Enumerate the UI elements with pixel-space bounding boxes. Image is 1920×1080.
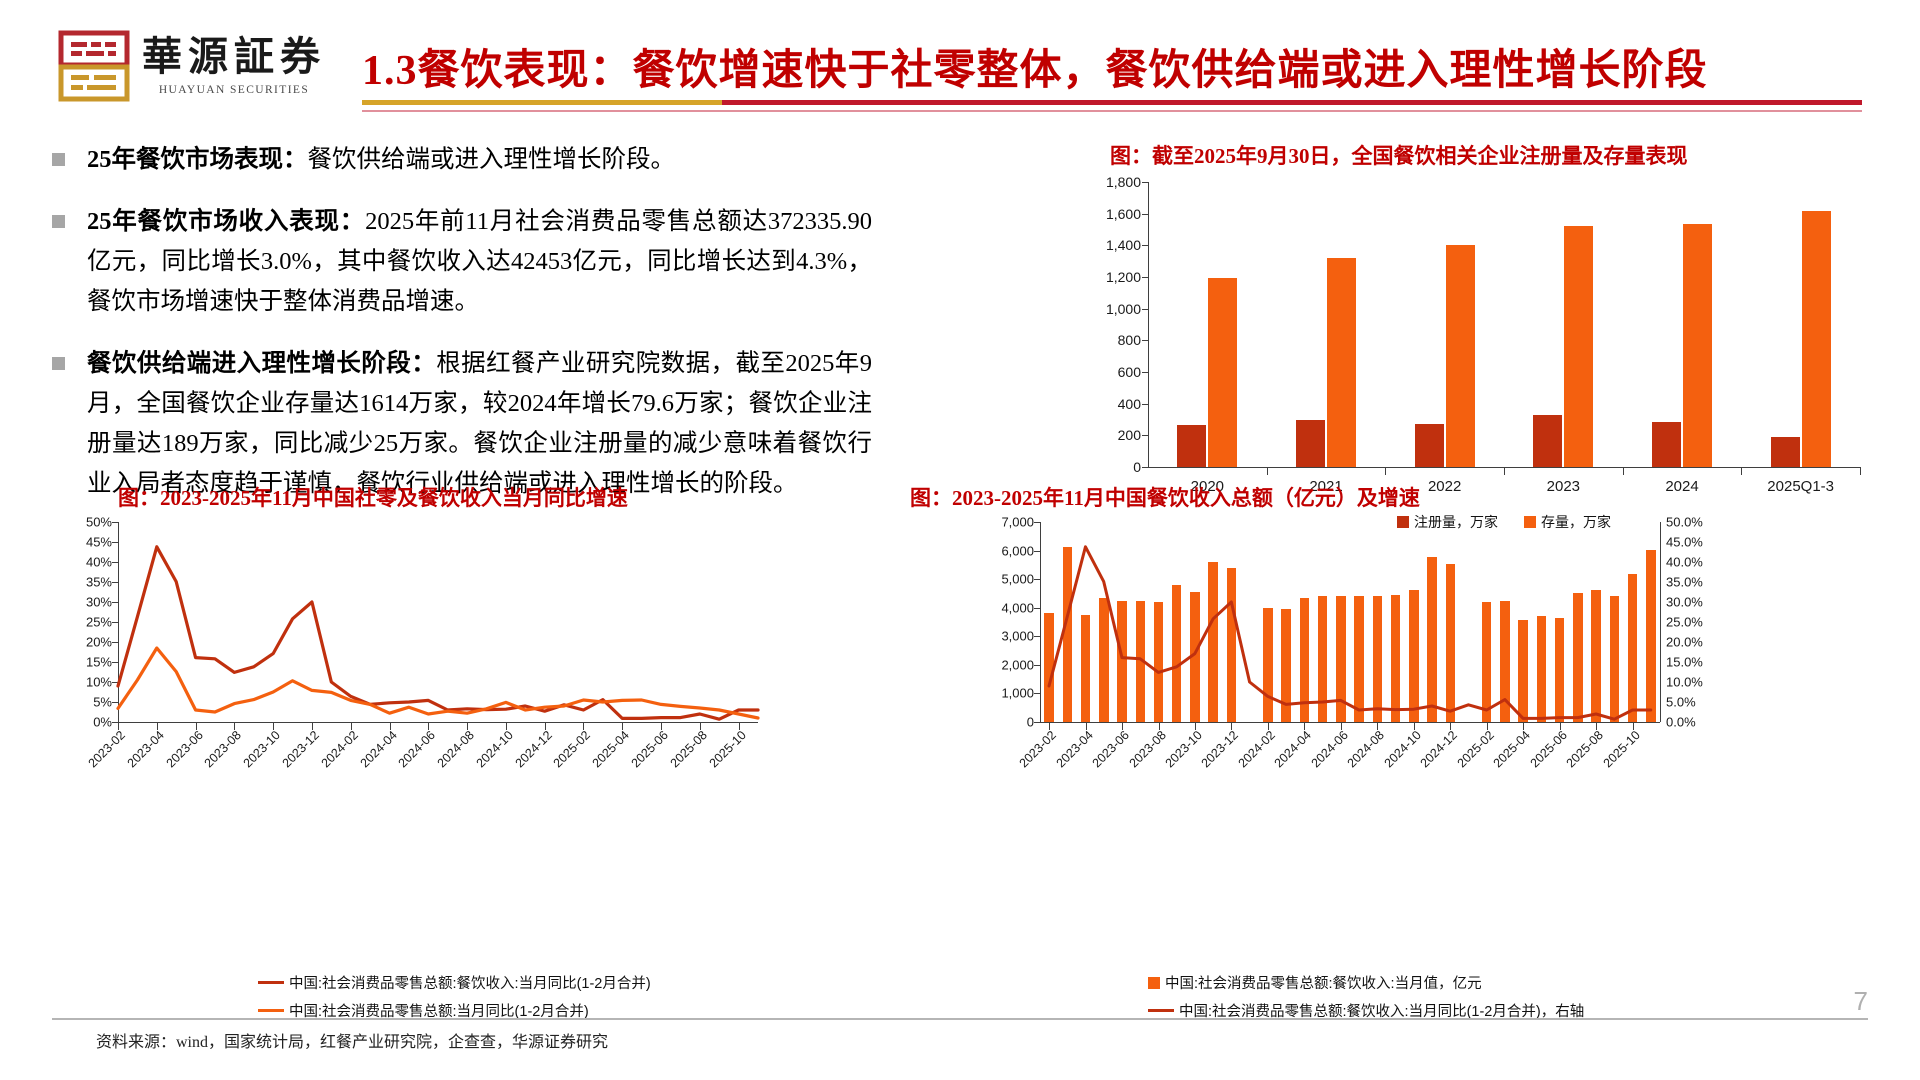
header-rule-red bbox=[722, 100, 1862, 105]
bar-registrations bbox=[1533, 415, 1562, 467]
y2-tick-label: 25.0% bbox=[1666, 615, 1703, 630]
y2-tick-label: 15.0% bbox=[1666, 655, 1703, 670]
y-tick-label: 30% bbox=[86, 595, 112, 610]
y-tick-label: 1,000 bbox=[1106, 301, 1141, 317]
y-tick-mark bbox=[1142, 404, 1148, 405]
y-tick-label: 800 bbox=[1118, 332, 1141, 348]
y-tick-label: 200 bbox=[1118, 427, 1141, 443]
company-logo: 華源証券 HUAYUAN SECURITIES bbox=[58, 30, 326, 102]
y-tick-label: 1,800 bbox=[1106, 174, 1141, 190]
chart-title-catering-revenue: 图：2023-2025年11月中国餐饮收入总额（亿元）及增速 bbox=[910, 482, 1420, 512]
chart-enterprise-bar: 02004006008001,0001,2001,4001,6001,80020… bbox=[1148, 182, 1860, 467]
y2-tick-label: 30.0% bbox=[1666, 595, 1703, 610]
y-tick-mark bbox=[1034, 608, 1040, 609]
y-tick-label: 7,000 bbox=[1001, 515, 1034, 530]
footer-divider bbox=[52, 1018, 1868, 1020]
legend-catering-revenue: 中国:社会消费品零售总额:餐饮收入:当月值，亿元中国:社会消费品零售总额:餐饮收… bbox=[1148, 972, 1584, 1021]
y-tick-label: 20% bbox=[86, 635, 112, 650]
y-tick-label: 35% bbox=[86, 575, 112, 590]
x-category-label: 2023 bbox=[1547, 478, 1580, 495]
logo-english-name: HUAYUAN SECURITIES bbox=[159, 84, 309, 96]
bar-registrations bbox=[1296, 420, 1325, 467]
y-tick-label: 600 bbox=[1118, 364, 1141, 380]
y-tick-label: 15% bbox=[86, 655, 112, 670]
bullet-text: 25年餐饮市场表现：餐饮供给端或进入理性增长阶段。 bbox=[87, 140, 675, 180]
y-tick-label: 4,000 bbox=[1001, 600, 1034, 615]
y-tick-mark bbox=[1142, 340, 1148, 341]
header-rule-gold bbox=[362, 100, 722, 105]
bullet-lead: 餐饮供给端进入理性增长阶段： bbox=[87, 350, 436, 377]
chart-title-yoy-growth: 图：2023-2025年11月中国社零及餐饮收入当月同比增速 bbox=[118, 482, 628, 512]
y2-tick-label: 50.0% bbox=[1666, 515, 1703, 530]
bullet-text: 25年餐饮市场收入表现：2025年前11月社会消费品零售总额达372335.90… bbox=[87, 202, 872, 322]
y-tick-mark bbox=[1142, 467, 1148, 468]
bar-stock bbox=[1802, 211, 1831, 467]
y2-tick-label: 5.0% bbox=[1666, 695, 1696, 710]
y-tick-label: 0% bbox=[93, 715, 112, 730]
bar-registrations bbox=[1652, 422, 1681, 467]
y-tick-label: 10% bbox=[86, 675, 112, 690]
series-line-retail-yoy bbox=[118, 522, 758, 722]
header-rule-thin bbox=[362, 110, 1862, 112]
chart-catering-revenue-combo: 01,0002,0003,0004,0005,0006,0007,0000.0%… bbox=[1040, 522, 1660, 722]
legend-item-0: 中国:社会消费品零售总额:餐饮收入:当月值，亿元 bbox=[1148, 972, 1584, 993]
bullet-lead: 25年餐饮市场收入表现： bbox=[87, 208, 365, 235]
legend-label: 中国:社会消费品零售总额:餐饮收入:当月值，亿元 bbox=[1165, 972, 1482, 993]
y2-tick-label: 10.0% bbox=[1666, 675, 1703, 690]
page-title: 1.3餐饮表现：餐饮增速快于社零整体，餐饮供给端或进入理性增长阶段 bbox=[362, 36, 1708, 97]
x-tick-mark bbox=[1385, 467, 1386, 475]
legend-line-swatch bbox=[258, 1009, 284, 1012]
y-tick-label: 0 bbox=[1027, 715, 1034, 730]
x-tick-mark bbox=[1623, 467, 1624, 475]
y-axis bbox=[1040, 522, 1041, 722]
chart-yoy-growth-line: 0%5%10%15%20%25%30%35%40%45%50%2023-0220… bbox=[118, 522, 758, 722]
legend-swatch bbox=[1148, 977, 1160, 989]
bar-stock bbox=[1683, 224, 1712, 467]
line-overlay bbox=[1049, 522, 1651, 722]
y-tick-label: 40% bbox=[86, 555, 112, 570]
x-tick-mark bbox=[1860, 467, 1861, 475]
x-category-label: 2024 bbox=[1665, 478, 1698, 495]
y2-tick-label: 35.0% bbox=[1666, 575, 1703, 590]
list-item: 25年餐饮市场收入表现：2025年前11月社会消费品零售总额达372335.90… bbox=[52, 202, 872, 322]
y-tick-mark bbox=[1142, 277, 1148, 278]
y-tick-label: 0 bbox=[1133, 459, 1141, 475]
bar-stock bbox=[1208, 278, 1237, 467]
bar-stock bbox=[1446, 245, 1475, 467]
bullet-square-icon bbox=[52, 153, 65, 166]
y2-tick-label: 20.0% bbox=[1666, 635, 1703, 650]
y-tick-label: 5,000 bbox=[1001, 572, 1034, 587]
bar-registrations bbox=[1771, 437, 1800, 467]
x-tick-mark bbox=[1267, 467, 1268, 475]
bar-stock bbox=[1327, 258, 1356, 467]
y-tick-label: 1,600 bbox=[1106, 206, 1141, 222]
y-tick-label: 45% bbox=[86, 535, 112, 550]
y-tick-mark bbox=[1142, 435, 1148, 436]
y-tick-mark bbox=[1034, 665, 1040, 666]
y-tick-mark bbox=[1142, 214, 1148, 215]
bullet-square-icon bbox=[52, 357, 65, 370]
slide: 華源証券 HUAYUAN SECURITIES 1.3餐饮表现：餐饮增速快于社零… bbox=[0, 0, 1920, 1080]
y-tick-mark bbox=[1142, 245, 1148, 246]
bullet-rest: 餐饮供给端或进入理性增长阶段。 bbox=[308, 146, 676, 173]
logo-chinese-name: 華源証券 bbox=[142, 37, 326, 77]
y-tick-mark bbox=[1034, 722, 1040, 723]
x-tick-mark bbox=[1741, 467, 1742, 475]
legend-yoy-growth: 中国:社会消费品零售总额:餐饮收入:当月同比(1-2月合并)中国:社会消费品零售… bbox=[258, 972, 651, 1021]
page-number: 7 bbox=[1854, 986, 1868, 1017]
y-tick-mark bbox=[1142, 372, 1148, 373]
series-line-catering-yoy-right bbox=[1049, 522, 1651, 722]
y-tick-mark bbox=[1034, 522, 1040, 523]
huayuan-seal-icon bbox=[58, 30, 130, 102]
y-tick-label: 6,000 bbox=[1001, 543, 1034, 558]
y-tick-label: 5% bbox=[93, 695, 112, 710]
bar-registrations bbox=[1177, 425, 1206, 467]
list-item: 25年餐饮市场表现：餐饮供给端或进入理性增长阶段。 bbox=[52, 140, 872, 180]
y-tick-label: 2,000 bbox=[1001, 657, 1034, 672]
bullet-text: 餐饮供给端进入理性增长阶段：根据红餐产业研究院数据，截至2025年9月，全国餐饮… bbox=[87, 344, 872, 504]
legend-label: 中国:社会消费品零售总额:餐饮收入:当月同比(1-2月合并) bbox=[289, 972, 651, 993]
chart-title-enterprise-bar: 图：截至2025年9月30日，全国餐饮相关企业注册量及存量表现 bbox=[1110, 140, 1688, 170]
slide-header: 華源証券 HUAYUAN SECURITIES 1.3餐饮表现：餐饮增速快于社零… bbox=[0, 0, 1920, 128]
y2-tick-label: 45.0% bbox=[1666, 535, 1703, 550]
y-tick-label: 50% bbox=[86, 515, 112, 530]
y-tick-mark bbox=[1142, 182, 1148, 183]
y-tick-mark bbox=[1142, 309, 1148, 310]
y-tick-mark bbox=[1034, 636, 1040, 637]
y2-tick-label: 40.0% bbox=[1666, 555, 1703, 570]
y-tick-label: 1,200 bbox=[1106, 269, 1141, 285]
y-axis-right bbox=[1660, 522, 1661, 722]
y-tick-label: 1,000 bbox=[1001, 686, 1034, 701]
bullet-list: 25年餐饮市场表现：餐饮供给端或进入理性增长阶段。 25年餐饮市场收入表现：20… bbox=[52, 140, 872, 526]
bullet-square-icon bbox=[52, 215, 65, 228]
x-category-label: 2022 bbox=[1428, 478, 1461, 495]
y-tick-mark bbox=[1034, 551, 1040, 552]
list-item: 餐饮供给端进入理性增长阶段：根据红餐产业研究院数据，截至2025年9月，全国餐饮… bbox=[52, 344, 872, 504]
legend-line-swatch bbox=[1148, 1009, 1174, 1012]
x-axis bbox=[1040, 722, 1660, 723]
source-note: 资料来源：wind，国家统计局，红餐产业研究院，企查查，华源证券研究 bbox=[96, 1028, 608, 1052]
y-axis bbox=[1148, 182, 1149, 467]
legend-line-swatch bbox=[258, 981, 284, 984]
bullet-lead: 25年餐饮市场表现： bbox=[87, 146, 308, 173]
x-category-label: 2025Q1-3 bbox=[1767, 478, 1834, 495]
y-tick-label: 3,000 bbox=[1001, 629, 1034, 644]
y-tick-label: 400 bbox=[1118, 396, 1141, 412]
y-tick-label: 1,400 bbox=[1106, 237, 1141, 253]
bar-stock bbox=[1564, 226, 1593, 467]
legend-item-0: 中国:社会消费品零售总额:餐饮收入:当月同比(1-2月合并) bbox=[258, 972, 651, 993]
x-tick-mark bbox=[1504, 467, 1505, 475]
y-tick-mark bbox=[1034, 693, 1040, 694]
y-tick-mark bbox=[1034, 579, 1040, 580]
y-tick-label: 25% bbox=[86, 615, 112, 630]
y2-tick-label: 0.0% bbox=[1666, 715, 1696, 730]
bar-registrations bbox=[1415, 424, 1444, 467]
